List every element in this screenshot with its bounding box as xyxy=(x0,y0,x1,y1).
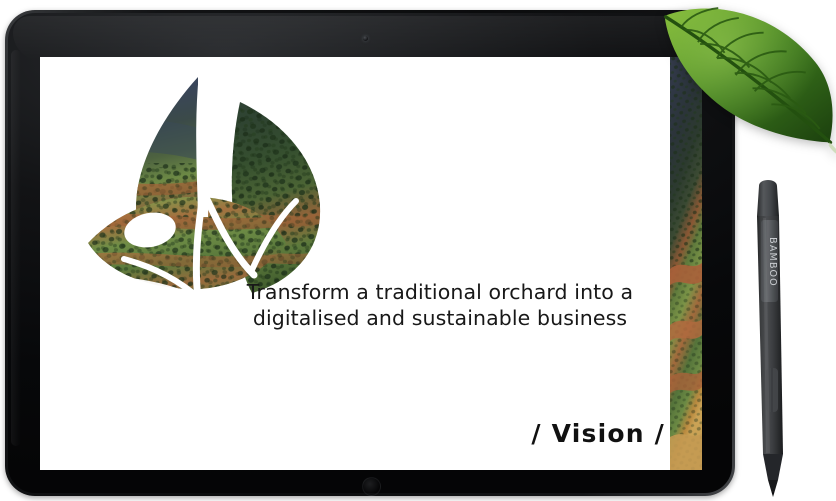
screenshot-stage: Transform a traditional orchard into a d… xyxy=(0,0,836,501)
tablet-device: Transform a traditional orchard into a d… xyxy=(5,10,735,496)
section-tag-vision: / Vision / xyxy=(370,419,665,448)
slide-headline: Transform a traditional orchard into a d… xyxy=(230,279,650,331)
tablet-screen[interactable]: Transform a traditional orchard into a d… xyxy=(40,57,702,470)
wacom-bamboo-stylus: BAMBOO xyxy=(745,172,799,497)
home-button[interactable] xyxy=(362,477,381,496)
avocado-leaf xyxy=(640,0,836,164)
stylus-brand-text: BAMBOO xyxy=(767,237,778,287)
front-camera-icon xyxy=(363,36,368,41)
three-leaf-orchard-logo xyxy=(80,67,345,307)
